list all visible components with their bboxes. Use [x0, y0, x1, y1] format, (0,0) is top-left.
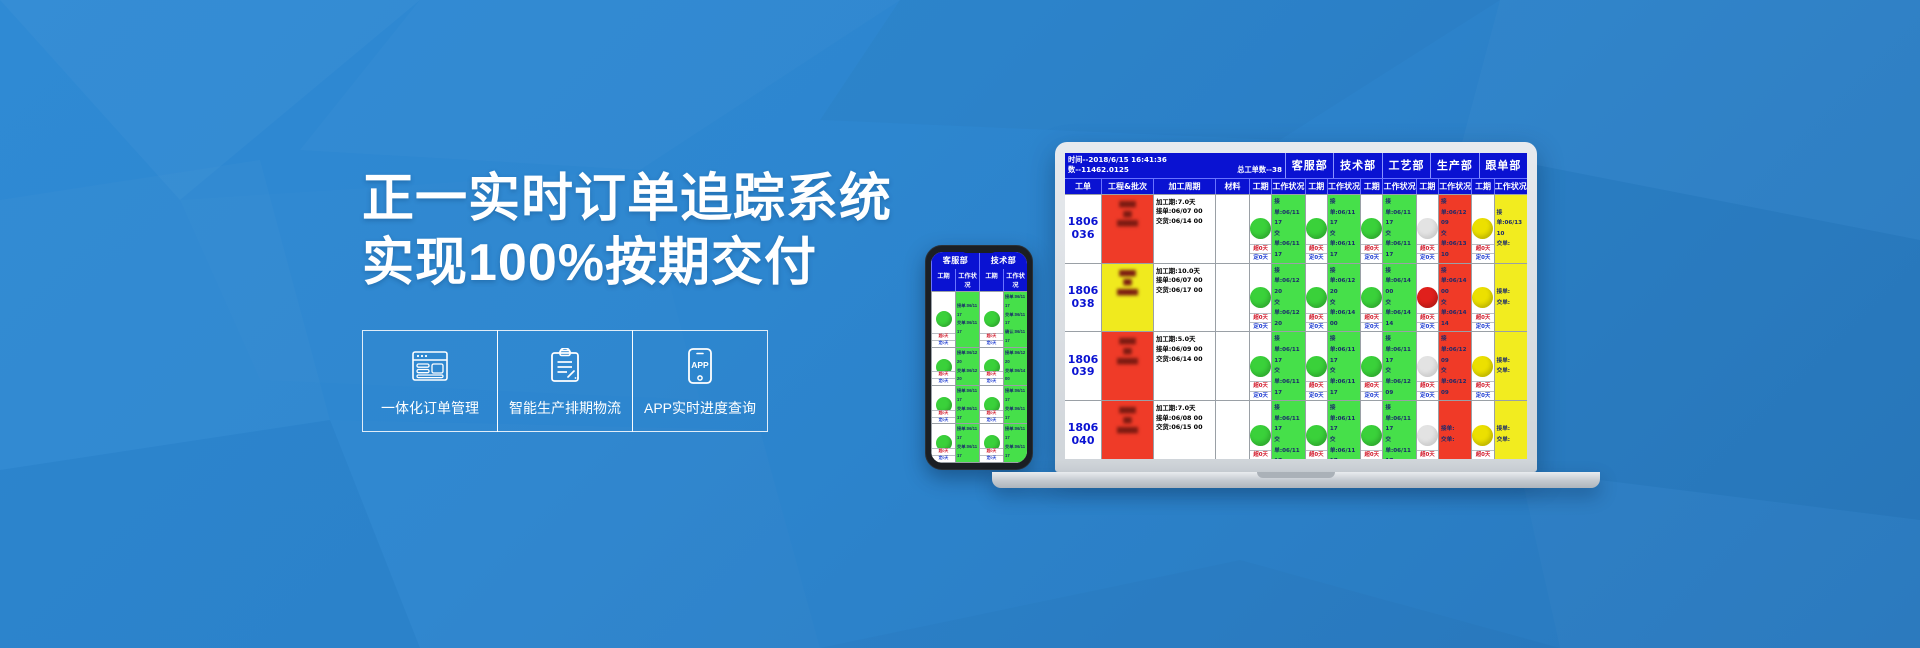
project-batch-cell: ███████████ [1101, 264, 1153, 332]
badge-overdue: 超0天 [1361, 244, 1382, 253]
work-status-box: 接单:06/11 17交单:06/12 09 [1383, 332, 1415, 400]
phone-status-cell-0: 接单:06/11 17交单:06/11 17 [955, 386, 979, 423]
dept-status-cell: 接单:06/11 17交单:06/11 17 [1271, 401, 1304, 459]
dept-group-2: 超0天定0天接单:06/11 17交单:06/11 17 [1360, 195, 1416, 263]
status-indicator-dot [1417, 218, 1438, 239]
dept-duration-cell: 超0天定0天 [1305, 332, 1327, 400]
headline-line-2: 实现100%按期交付 [362, 232, 882, 296]
status-indicator-dot [1361, 425, 1382, 446]
table-row[interactable]: 1806038███████████加工期:10.0天接单:06/07 00交货… [1065, 263, 1527, 332]
table-row[interactable]: 1806040███████████加工期:7.0天接单:06/08 00交货:… [1065, 400, 1527, 459]
status-line-1: 交单:06/12 09 [1441, 366, 1469, 398]
work-status-box: 接单:交单: [1439, 401, 1471, 459]
duration-badges: 超0天定0天 [1472, 381, 1493, 400]
cycle-line-0: 加工期:10.0天 [1156, 267, 1213, 277]
phone-badge-scheduled: 定0天 [980, 340, 1003, 347]
table-row[interactable]: 1806036███████████加工期:7.0天接单:06/07 00交货:… [1065, 194, 1527, 263]
page-title: 正一实时订单追踪系统 实现100%按期交付 [362, 168, 882, 296]
duration-badges: 超0天定0天 [1417, 381, 1438, 400]
status-indicator-dot [1250, 425, 1271, 446]
phone-duration-badges: 超0天定0天 [932, 448, 955, 462]
dept-status-cell: 接单:交单: [1494, 401, 1527, 459]
dept-subhead-group-1: 工期工作状况 [1305, 179, 1361, 194]
duration-badges: 超0天定0天 [1417, 244, 1438, 263]
dashboard-row-list: 1806036███████████加工期:7.0天接单:06/07 00交货:… [1065, 194, 1527, 459]
status-indicator-dot [1361, 287, 1382, 308]
status-line-1: 交单:06/11 17 [1330, 229, 1358, 261]
phone-dept-customer-service: 客服部 [931, 252, 979, 269]
phone-status-line-1: 交单:06/12 20 [957, 367, 978, 385]
status-line-1: 交单:06/11 17 [1330, 435, 1358, 459]
phone-status-cell-1: 接单:06/11 17交单:06/11 17 [1003, 386, 1027, 423]
project-batch-text: ███████████ [1102, 264, 1153, 299]
phone-status-line-0: 接单:06/11 17 [1005, 425, 1026, 443]
status-indicator-dot [1417, 287, 1438, 308]
phone-status-line-0: 接单:06/11 17 [957, 425, 978, 443]
material-cell [1215, 195, 1249, 263]
phone-badge-overdue: 超0天 [932, 371, 955, 378]
dashboard-counter: 数--11462.0125 [1068, 165, 1129, 175]
phone-status-cell-0: 接单:06/12 20交单:06/12 20 [955, 348, 979, 385]
dept-group-3: 超0天定0天接单:06/14 00交单:06/14 14 [1416, 264, 1472, 332]
work-order-prefix: 1806 [1068, 216, 1099, 229]
phone-status-line-0: 接单:06/12 20 [957, 349, 978, 367]
dept-status-cell: 接单:06/14 00交单:06/14 14 [1382, 264, 1415, 332]
phone-status-box: 接单:06/11 17交单:06/11 17 [956, 424, 979, 461]
phone-badge-overdue: 超0天 [980, 448, 1003, 455]
cycle-line-2: 交货:06/15 00 [1156, 423, 1213, 433]
project-batch-cell: ███████████ [1101, 195, 1153, 263]
phone-status-line-0: 接单:06/11 17 [1005, 293, 1026, 311]
dept-status-cell: 接单:06/14 00交单:06/14 14 [1438, 264, 1471, 332]
feature-card-production-scheduling[interactable]: 智能生产排期物流 [497, 330, 633, 432]
dept-group-0: 超0天定1天接单:06/11 17交单:06/11 17 [1249, 401, 1305, 459]
status-line-1: 交单:06/11 17 [1274, 229, 1302, 261]
phone-status-box: 接单:06/11 17交单:06/11 17 [1004, 424, 1027, 461]
badge-overdue: 超0天 [1417, 313, 1438, 322]
material-cell [1215, 332, 1249, 400]
table-row[interactable]: 1806039███████████加工期:5.0天接单:06/09 00交货:… [1065, 331, 1527, 400]
cycle-line-1: 接单:06/07 00 [1156, 276, 1213, 286]
dept-group-4: 超0天定0天接单:交单: [1471, 332, 1527, 400]
badge-overdue: 超0天 [1306, 381, 1327, 390]
phone-status-cell-0: 接单:06/11 17交单:06/11 17 [955, 292, 979, 347]
status-line-0: 接单:06/12 20 [1274, 266, 1302, 298]
dept-status-cell: 接单:06/13 10交单: [1494, 195, 1527, 263]
dashboard-timestamp: 时间--2018/6/15 16:41:36 [1068, 155, 1282, 165]
phone-badge-scheduled: 定0天 [932, 378, 955, 385]
laptop-lid: 时间--2018/6/15 16:41:36 数--11462.0125 总工单… [1055, 142, 1537, 472]
dept-status-cell: 接单:06/12 20交单:06/12 20 [1271, 264, 1304, 332]
status-line-1: 交单: [1497, 239, 1525, 250]
phone-badge-scheduled: 定0天 [932, 417, 955, 424]
work-status-box: 接单:06/13 10交单: [1495, 195, 1527, 263]
duration-badges: 超0天定1天 [1472, 450, 1493, 459]
work-order-suffix: 040 [1072, 435, 1095, 448]
badge-overdue: 超0天 [1417, 381, 1438, 390]
phone-col-status-2: 工作状况 [1003, 269, 1027, 291]
dept-duration-cell: 超0天定4天 [1305, 401, 1327, 459]
dept-status-cell: 接单:06/11 17交单:06/11 17 [1327, 332, 1360, 400]
badge-scheduled: 定0天 [1250, 253, 1271, 262]
badge-scheduled: 定0天 [1250, 391, 1271, 400]
dept-status-cell: 接单:06/11 17交单:06/11 17 [1327, 195, 1360, 263]
col-processing-cycle: 加工周期 [1153, 179, 1215, 194]
dept-duration-cell: 超0天定0天 [1416, 264, 1438, 332]
work-order-suffix: 036 [1072, 229, 1095, 242]
phone-table-row[interactable]: 超0天定0天接单:06/11 17交单:06/11 17超0天定0天接单:06/… [931, 462, 1027, 463]
project-batch-cell: ███████████ [1101, 332, 1153, 400]
duration-badges: 超0天定0天 [1472, 244, 1493, 263]
duration-badges: 超0天定0天 [1306, 244, 1327, 263]
status-line-0: 接单:06/12 09 [1441, 334, 1469, 366]
phone-status-box: 接单:06/11 17交单:06/11 17确认:06/11 17 [1004, 292, 1027, 347]
duration-badges: 超0天定0天 [1250, 313, 1271, 332]
status-indicator-dot [1472, 218, 1493, 239]
phone-duration-badges: 超0天定0天 [932, 410, 955, 424]
status-indicator-dot [1250, 287, 1271, 308]
status-line-1: 交单:06/11 17 [1330, 366, 1358, 398]
work-status-box: 接单:06/12 20交单:06/12 20 [1272, 264, 1304, 332]
status-line-1: 交单:06/11 17 [1385, 435, 1413, 459]
project-batch-text: ███████████ [1102, 401, 1153, 436]
phone-duration-badges: 超0天定0天 [932, 333, 955, 347]
dept-duration-cell: 超0天定1天 [1416, 401, 1438, 459]
status-line-1: 交单:06/14 00 [1330, 298, 1358, 330]
phone-status-box: 接单:06/11 17交单:06/11 17 [956, 386, 979, 423]
dept-status-cell: 接单:06/11 17交单:06/12 09 [1382, 332, 1415, 400]
phone-duration-cell-1: 超0天定0天 [979, 424, 1003, 461]
project-batch-cell: ███████████ [1101, 401, 1153, 459]
status-line-1: 交单:06/13 10 [1441, 229, 1469, 261]
phone-duration-cell-0: 超0天定0天 [931, 348, 955, 385]
phone-duration-badges: 超0天定0天 [980, 371, 1003, 385]
dept-duration-cell: 超0天定1天 [1249, 401, 1271, 459]
duration-badges: 超0天定1天 [1250, 450, 1271, 459]
status-line-0: 接单:06/11 17 [1330, 197, 1358, 229]
phone-duration-badges: 超0天定0天 [980, 333, 1003, 347]
phone-department-header: 客服部 技术部 [931, 252, 1027, 269]
status-line-1: 交单:06/14 14 [1441, 298, 1469, 330]
phone-table-row[interactable]: 超0天定0天接单:06/11 17交单:06/11 17超0天定0天接单:06/… [931, 423, 1027, 461]
material-cell [1215, 401, 1249, 459]
cycle-line-1: 接单:06/08 00 [1156, 414, 1213, 424]
badge-overdue: 超0天 [1361, 313, 1382, 322]
dept-duration-cell: 超0天定1天 [1360, 401, 1382, 459]
status-line-1: 交单: [1441, 435, 1469, 446]
phone-duration-cell-0: 超0天定0天 [931, 424, 955, 461]
dept-header-technical: 技术部 [1333, 153, 1381, 178]
subcol-duration: 工期 [1305, 179, 1327, 194]
dept-duration-cell: 超0天定0天 [1360, 332, 1382, 400]
dept-header-customer-service: 客服部 [1285, 153, 1333, 178]
badge-scheduled: 定0天 [1306, 322, 1327, 331]
badge-scheduled: 定0天 [1306, 253, 1327, 262]
phone-badge-scheduled: 定0天 [980, 417, 1003, 424]
phone-duration-cell-1: 超0天定0天 [979, 386, 1003, 423]
dept-header-merchandising: 跟单部 [1479, 153, 1527, 178]
order-tracking-dashboard: 时间--2018/6/15 16:41:36 数--11462.0125 总工单… [1065, 153, 1527, 459]
hero-copy: 正一实时订单追踪系统 实现100%按期交付 一体化订单管理 [362, 168, 882, 432]
material-cell [1215, 264, 1249, 332]
phone-status-line-0: 接单:06/11 17 [957, 302, 978, 320]
subcol-duration: 工期 [1360, 179, 1382, 194]
dept-group-0: 超0天定0天接单:06/12 20交单:06/12 20 [1249, 264, 1305, 332]
status-line-1: 交单: [1497, 298, 1525, 309]
badge-scheduled: 定0天 [1361, 322, 1382, 331]
work-status-box: 接单:06/11 17交单:06/11 17 [1383, 195, 1415, 263]
work-status-box: 接单:交单: [1495, 401, 1527, 459]
work-status-box: 接单:06/11 17交单:06/11 17 [1328, 195, 1360, 263]
status-indicator-dot [1306, 356, 1327, 377]
duration-badges: 超0天定0天 [1361, 313, 1382, 332]
status-line-0: 接单:06/12 09 [1441, 197, 1469, 229]
dept-duration-cell: 超0天定0天 [1471, 332, 1493, 400]
laptop-mockup: 时间--2018/6/15 16:41:36 数--11462.0125 总工单… [1055, 142, 1600, 488]
phone-row-list: 超0天定0天接单:06/11 17交单:06/11 17超0天定0天接单:06/… [931, 291, 1027, 463]
status-line-0: 接单:06/11 17 [1274, 334, 1302, 366]
work-order-cell: 1806039 [1065, 332, 1101, 400]
phone-status-box: 接单:06/11 17交单:06/11 17 [1004, 386, 1027, 423]
subcol-status: 工作状况 [1382, 179, 1415, 194]
status-line-1: 交单:06/12 20 [1274, 298, 1302, 330]
status-line-0: 接单:06/11 17 [1274, 197, 1302, 229]
dept-group-2: 超0天定0天接单:06/11 17交单:06/12 09 [1360, 332, 1416, 400]
phone-duration-badges: 超0天定0天 [980, 410, 1003, 424]
badge-overdue: 超0天 [1250, 313, 1271, 322]
feature-card-label: 一体化订单管理 [381, 398, 479, 418]
status-line-0: 接单:06/12 20 [1330, 266, 1358, 298]
phone-status-cell-1: 接单:06/11 17交单:06/11 17确认:06/11 17 [1003, 292, 1027, 347]
phone-badge-overdue: 超0天 [980, 333, 1003, 340]
feature-card-app-tracking[interactable]: APP APP实时进度查询 [632, 330, 768, 432]
status-indicator-dot [1472, 287, 1493, 308]
phone-notch [960, 246, 998, 253]
work-status-box: 接单:06/11 17交单:06/11 17 [1272, 332, 1304, 400]
phone-status-line-0: 接单:06/11 17 [957, 387, 978, 405]
status-line-0: 接单:06/14 00 [1441, 266, 1469, 298]
dept-group-0: 超0天定0天接单:06/11 17交单:06/11 17 [1249, 195, 1305, 263]
work-order-cell: 1806040 [1065, 401, 1101, 459]
duration-badges: 超0天定4天 [1306, 450, 1327, 459]
dept-header-production: 生产部 [1430, 153, 1478, 178]
phone-table-row[interactable]: 超0天定0天接单:06/11 17交单:06/11 17超0天定0天接单:06/… [931, 291, 1027, 347]
badge-scheduled: 定0天 [1472, 253, 1493, 262]
dashboard-meta: 时间--2018/6/15 16:41:36 数--11462.0125 总工单… [1065, 153, 1285, 178]
dept-subhead-group-4: 工期工作状况 [1471, 179, 1527, 194]
phone-col-duration-2: 工期 [979, 269, 1003, 291]
badge-overdue: 超0天 [1250, 450, 1271, 459]
dept-status-cell: 接单:06/11 17交单:06/11 17 [1271, 195, 1304, 263]
badge-scheduled: 定0天 [1361, 391, 1382, 400]
work-status-box: 接单:06/11 17交单:06/11 17 [1328, 332, 1360, 400]
dept-group-4: 超0天定1天接单:交单: [1471, 401, 1527, 459]
dept-sub-headers: 工期工作状况工期工作状况工期工作状况工期工作状况工期工作状况 [1249, 179, 1527, 194]
feature-cards: 一体化订单管理 智能生产排期物流 [362, 330, 882, 432]
dept-status-cell: 接单:06/12 20交单:06/14 00 [1327, 264, 1360, 332]
phone-status-dot [984, 311, 1000, 327]
status-line-0: 接单:06/11 17 [1274, 403, 1302, 435]
dept-status-cell: 接单:交单: [1494, 332, 1527, 400]
feature-card-label: APP实时进度查询 [644, 398, 756, 418]
status-line-1: 交单:06/11 17 [1385, 229, 1413, 261]
status-indicator-dot [1250, 218, 1271, 239]
status-line-0: 接单: [1441, 424, 1469, 435]
work-status-box: 接单:06/12 09交单:06/13 10 [1439, 195, 1471, 263]
work-status-box: 接单:交单: [1495, 332, 1527, 400]
status-indicator-dot [1361, 218, 1382, 239]
subcol-status: 工作状况 [1327, 179, 1360, 194]
svg-text:APP: APP [691, 360, 709, 370]
work-status-box: 接单:06/11 17交单:06/11 17 [1328, 401, 1360, 459]
dept-duration-cell: 超0天定0天 [1305, 264, 1327, 332]
dept-status-cell: 接单:交单: [1494, 264, 1527, 332]
dashboard-total-orders: 总工单数--38 [1237, 165, 1282, 175]
dept-duration-cell: 超0天定0天 [1249, 332, 1271, 400]
cycle-line-1: 接单:06/07 00 [1156, 207, 1213, 217]
phone-status-line-1: 交单:06/11 17 [957, 405, 978, 423]
clipboard-schedule-icon [549, 343, 581, 389]
phone-badge-overdue: 超0天 [932, 333, 955, 340]
badge-scheduled: 定0天 [1417, 322, 1438, 331]
subcol-status: 工作状况 [1271, 179, 1304, 194]
dept-status-cell: 接单:06/11 17交单:06/11 17 [1382, 195, 1415, 263]
dept-group-0: 超0天定0天接单:06/11 17交单:06/11 17 [1249, 332, 1305, 400]
dept-duration-cell: 超0天定0天 [1416, 332, 1438, 400]
phone-column-header: 工期 工作状况 工期 工作状况 [931, 269, 1027, 291]
phone-dashboard: 客服部 技术部 工期 工作状况 工期 工作状况 超0天定0天接单:06/11 1… [931, 252, 1027, 463]
cycle-line-2: 交货:06/14 00 [1156, 217, 1213, 227]
phone-badge-scheduled: 定0天 [980, 378, 1003, 385]
duration-badges: 超0天定0天 [1250, 244, 1271, 263]
dept-subhead-group-3: 工期工作状况 [1416, 179, 1472, 194]
status-indicator-dot [1306, 218, 1327, 239]
badge-overdue: 超0天 [1472, 450, 1493, 459]
phone-status-line-0: 接单:06/11 17 [1005, 387, 1026, 405]
work-status-box: 接单:交单: [1495, 264, 1527, 332]
dept-subhead-group-0: 工期工作状况 [1249, 179, 1305, 194]
dashboard-top-bar: 时间--2018/6/15 16:41:36 数--11462.0125 总工单… [1065, 153, 1527, 178]
subcol-status: 工作状况 [1494, 179, 1527, 194]
dept-status-cell: 接单:06/11 17交单:06/11 17 [1382, 401, 1415, 459]
duration-badges: 超0天定1天 [1361, 450, 1382, 459]
dept-group-4: 超0天定0天接单:交单: [1471, 264, 1527, 332]
mobile-app-icon: APP [686, 343, 714, 389]
phone-table-row[interactable]: 超0天定0天接单:06/12 20交单:06/12 20超0天定0天接单:06/… [931, 347, 1027, 385]
duration-badges: 超0天定0天 [1361, 244, 1382, 263]
cycle-line-2: 交货:06/17 00 [1156, 286, 1213, 296]
work-order-cell: 1806038 [1065, 264, 1101, 332]
badge-overdue: 超0天 [1472, 244, 1493, 253]
dept-subhead-group-2: 工期工作状况 [1360, 179, 1416, 194]
duration-badges: 超0天定0天 [1417, 313, 1438, 332]
dept-duration-cell: 超0天定0天 [1249, 264, 1271, 332]
badge-overdue: 超0天 [1472, 381, 1493, 390]
cycle-line-2: 交货:06/14 00 [1156, 355, 1213, 365]
dashboard-column-headers: 工单 工程&批次 加工周期 材料 工期工作状况工期工作状况工期工作状况工期工作状… [1065, 178, 1527, 194]
dept-duration-cell: 超0天定0天 [1471, 195, 1493, 263]
processing-cycle-cell: 加工期:5.0天接单:06/09 00交货:06/14 00 [1153, 332, 1215, 400]
dept-status-cell: 接单:06/12 09交单:06/12 09 [1438, 332, 1471, 400]
phone-status-box: 接单:06/12 20交单:06/14 00 [1004, 348, 1027, 385]
processing-cycle-cell: 加工期:7.0天接单:06/08 00交货:06/15 00 [1153, 401, 1215, 459]
phone-table-row[interactable]: 超0天定0天接单:06/11 17交单:06/11 17超0天定0天接单:06/… [931, 385, 1027, 423]
badge-scheduled: 定0天 [1361, 253, 1382, 262]
hero-banner: 正一实时订单追踪系统 实现100%按期交付 一体化订单管理 [0, 0, 1920, 648]
dept-group-3: 超0天定0天接单:06/12 09交单:06/12 09 [1416, 332, 1472, 400]
dept-group-1: 超0天定0天接单:06/12 20交单:06/14 00 [1305, 264, 1361, 332]
badge-overdue: 超0天 [1250, 381, 1271, 390]
work-status-box: 接单:06/14 00交单:06/14 14 [1439, 264, 1471, 332]
phone-badge-overdue: 超0天 [932, 448, 955, 455]
duration-badges: 超0天定0天 [1361, 381, 1382, 400]
status-line-0: 接单: [1497, 424, 1525, 435]
dashboard-department-headers: 客服部 技术部 工艺部 生产部 跟单部 [1285, 153, 1527, 178]
phone-duration-cell-1: 超0天定0天 [979, 292, 1003, 347]
dept-group-1: 超0天定4天接单:06/11 17交单:06/11 17 [1305, 401, 1361, 459]
subcol-duration: 工期 [1471, 179, 1493, 194]
phone-status-cell-1: 接单:06/12 20交单:06/14 00 [1003, 348, 1027, 385]
subcol-duration: 工期 [1416, 179, 1438, 194]
work-order-suffix: 038 [1072, 298, 1095, 311]
phone-status-line-1: 交单:06/11 17 [1005, 405, 1026, 423]
work-status-box: 接单:06/11 17交单:06/11 17 [1383, 401, 1415, 459]
status-line-0: 接单: [1497, 287, 1525, 298]
phone-col-status-1: 工作状况 [955, 269, 979, 291]
phone-badge-scheduled: 定0天 [932, 340, 955, 347]
dept-duration-cell: 超0天定0天 [1360, 195, 1382, 263]
badge-scheduled: 定0天 [1472, 391, 1493, 400]
badge-overdue: 超0天 [1417, 450, 1438, 459]
status-line-0: 接单:06/11 17 [1385, 334, 1413, 366]
phone-badge-overdue: 超0天 [980, 410, 1003, 417]
phone-status-cell-0: 接单:06/11 17交单:06/11 17 [955, 424, 979, 461]
work-status-box: 接单:06/11 17交单:06/11 17 [1272, 195, 1304, 263]
phone-status-box: 接单:06/11 17交单:06/11 17 [956, 292, 979, 347]
status-indicator-dot [1417, 356, 1438, 377]
status-indicator-dot [1250, 356, 1271, 377]
phone-status-dot [936, 311, 952, 327]
badge-overdue: 超0天 [1306, 313, 1327, 322]
status-line-0: 接单:06/11 17 [1385, 197, 1413, 229]
laptop-base [992, 472, 1600, 488]
badge-scheduled: 定0天 [1306, 391, 1327, 400]
badge-scheduled: 定0天 [1250, 322, 1271, 331]
duration-badges: 超0天定0天 [1250, 381, 1271, 400]
duration-badges: 超0天定1天 [1417, 450, 1438, 459]
dept-header-process: 工艺部 [1382, 153, 1430, 178]
feature-card-label: 智能生产排期物流 [509, 398, 621, 418]
phone-badge-overdue: 超0天 [980, 371, 1003, 378]
phone-col-duration-1: 工期 [931, 269, 955, 291]
work-order-prefix: 1806 [1068, 285, 1099, 298]
dept-group-2: 超0天定1天接单:06/11 17交单:06/11 17 [1360, 401, 1416, 459]
phone-dept-technical: 技术部 [979, 252, 1027, 269]
dept-group-3: 超0天定0天接单:06/12 09交单:06/13 10 [1416, 195, 1472, 263]
work-status-box: 接单:06/14 00交单:06/14 14 [1383, 264, 1415, 332]
dept-status-cell: 接单:06/11 17交单:06/11 17 [1271, 332, 1304, 400]
badge-scheduled: 定0天 [1417, 253, 1438, 262]
dashboard-layout-icon [411, 343, 449, 389]
phone-status-line-1: 交单:06/11 17 [1005, 311, 1026, 329]
feature-card-order-management[interactable]: 一体化订单管理 [362, 330, 498, 432]
phone-duration-badges: 超0天定0天 [932, 371, 955, 385]
phone-status-line-0: 接单:06/12 20 [1005, 349, 1026, 367]
phone-badge-scheduled: 定0天 [932, 455, 955, 462]
subcol-duration: 工期 [1249, 179, 1271, 194]
badge-overdue: 超0天 [1417, 244, 1438, 253]
status-line-1: 交单:06/11 17 [1274, 435, 1302, 459]
